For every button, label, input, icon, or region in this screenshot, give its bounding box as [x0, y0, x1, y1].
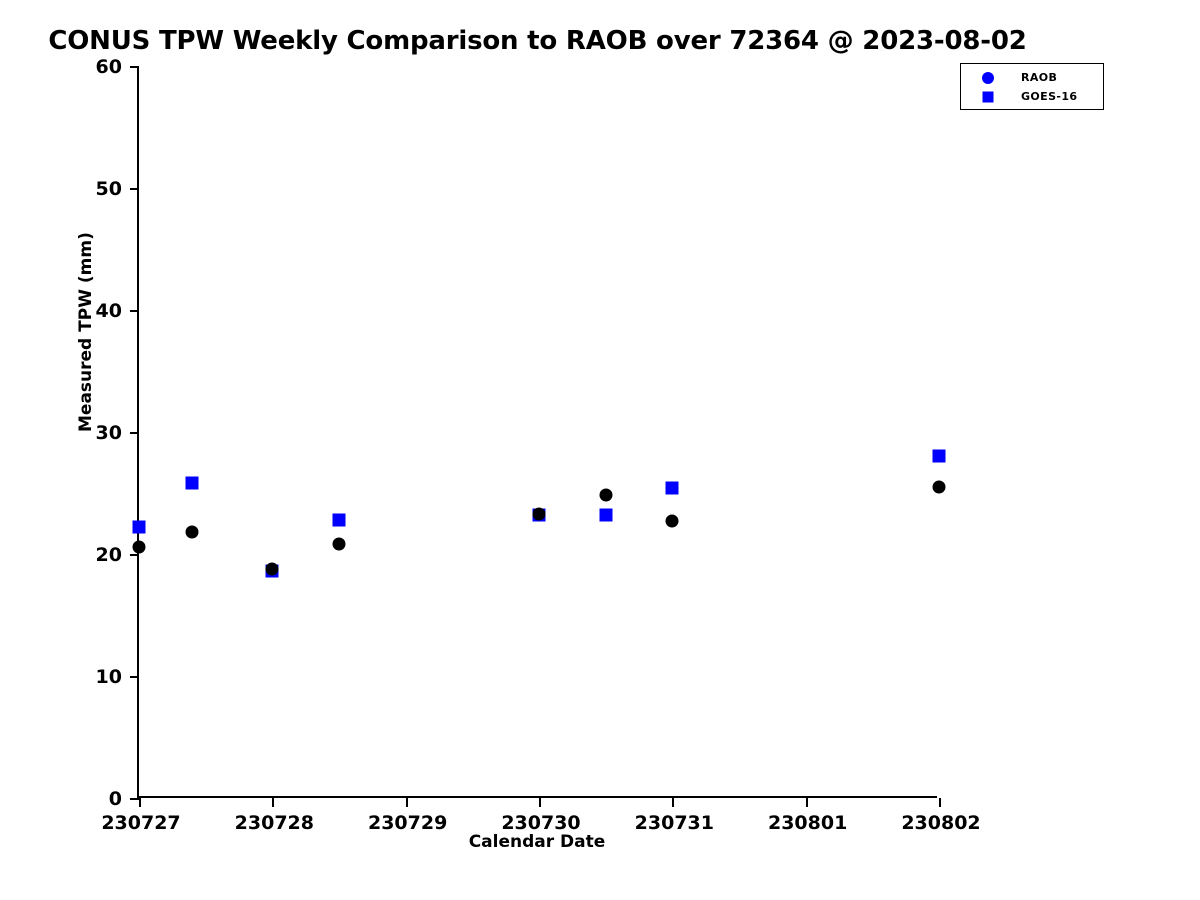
- x-axis-tick-label: 230729: [368, 812, 447, 834]
- x-axis-tick-label: 230801: [768, 812, 847, 834]
- chart-figure: CONUS TPW Weekly Comparison to RAOB over…: [0, 0, 1200, 900]
- x-axis-tick-label: 230728: [235, 812, 314, 834]
- x-axis-tick-label: 230727: [101, 812, 180, 834]
- x-axis-tick-label: 230730: [501, 812, 580, 834]
- x-axis-tick-label: 230802: [901, 812, 980, 834]
- y-axis-tick-label: 10: [96, 666, 122, 688]
- data-point-goes-16: [186, 477, 199, 490]
- x-axis-tick: 230730: [539, 798, 541, 807]
- x-axis-tick-label: 230731: [635, 812, 714, 834]
- y-axis-tick: 0: [130, 798, 139, 800]
- legend-label: RAOB: [1021, 71, 1057, 84]
- legend-label: GOES-16: [1021, 90, 1078, 103]
- x-axis-tick: 230802: [939, 798, 941, 807]
- y-axis-tick-label: 50: [96, 178, 122, 200]
- data-point-goes-16: [933, 450, 946, 463]
- y-axis-tick-label: 20: [96, 544, 122, 566]
- data-point-raob: [266, 562, 279, 575]
- data-point-goes-16: [333, 513, 346, 526]
- legend-marker-square-icon: [973, 88, 1003, 106]
- data-point-raob: [933, 480, 946, 493]
- data-point-raob: [533, 507, 546, 520]
- data-point-raob: [186, 526, 199, 539]
- x-axis-tick: 230729: [406, 798, 408, 807]
- y-axis-tick-label: 40: [96, 300, 122, 322]
- y-axis-tick: 30: [130, 432, 139, 434]
- data-point-raob: [333, 538, 346, 551]
- legend-swatch: [982, 72, 994, 84]
- data-point-raob: [133, 540, 146, 553]
- x-axis-tick: 230731: [672, 798, 674, 807]
- x-axis-tick: 230801: [806, 798, 808, 807]
- data-point-goes-16: [666, 482, 679, 495]
- y-axis-tick: 50: [130, 188, 139, 190]
- legend-entry-goes-16[interactable]: GOES-16: [961, 88, 1103, 106]
- legend-marker-circle-icon: [973, 69, 1003, 87]
- y-axis-tick: 10: [130, 676, 139, 678]
- y-axis-tick-label: 0: [109, 788, 122, 810]
- legend-swatch: [983, 92, 994, 103]
- data-point-goes-16: [133, 521, 146, 534]
- y-axis-tick: 60: [130, 66, 139, 68]
- y-axis-tick: 20: [130, 554, 139, 556]
- x-axis-tick: 230728: [272, 798, 274, 807]
- plot-area: 0102030405060 23072723072823072923073023…: [137, 66, 937, 798]
- data-point-raob: [599, 489, 612, 502]
- x-axis-label: Calendar Date: [137, 832, 937, 852]
- data-point-goes-16: [599, 508, 612, 521]
- chart-legend: RAOBGOES-16: [960, 63, 1104, 110]
- legend-entry-raob[interactable]: RAOB: [961, 69, 1103, 87]
- x-axis-tick: 230727: [139, 798, 141, 807]
- y-axis-label: Measured TPW (mm): [76, 232, 96, 432]
- y-axis-tick: 40: [130, 310, 139, 312]
- y-axis-tick-label: 30: [96, 422, 122, 444]
- y-axis-tick-label: 60: [96, 56, 122, 78]
- chart-title: CONUS TPW Weekly Comparison to RAOB over…: [0, 26, 1075, 56]
- data-point-raob: [666, 515, 679, 528]
